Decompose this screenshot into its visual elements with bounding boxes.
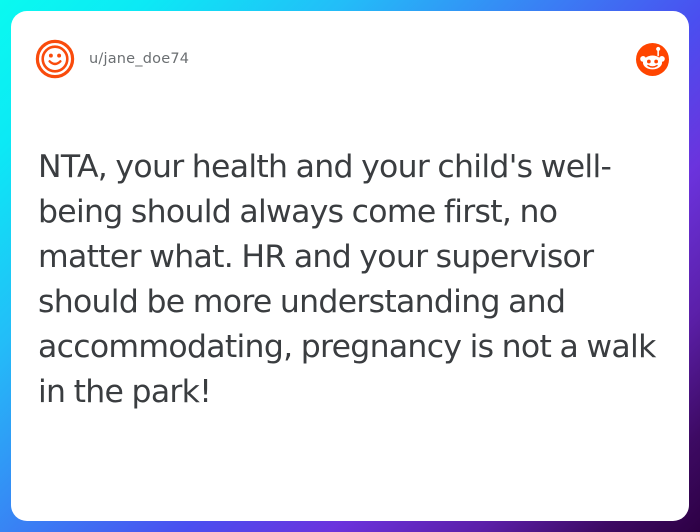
post-text: NTA, your health and your child's well-b… bbox=[38, 145, 665, 415]
username-label: u/jane_doe74 bbox=[89, 51, 189, 67]
reddit-snoo-icon[interactable] bbox=[636, 43, 669, 76]
card-header: u/jane_doe74 bbox=[11, 11, 689, 107]
post-body: NTA, your health and your child's well-b… bbox=[38, 145, 665, 415]
smiley-face-avatar-icon[interactable] bbox=[35, 39, 75, 79]
reddit-comment-card: u/jane_doe74 NTA, your health and your c… bbox=[11, 11, 689, 521]
gradient-background: u/jane_doe74 NTA, your health and your c… bbox=[0, 0, 700, 532]
